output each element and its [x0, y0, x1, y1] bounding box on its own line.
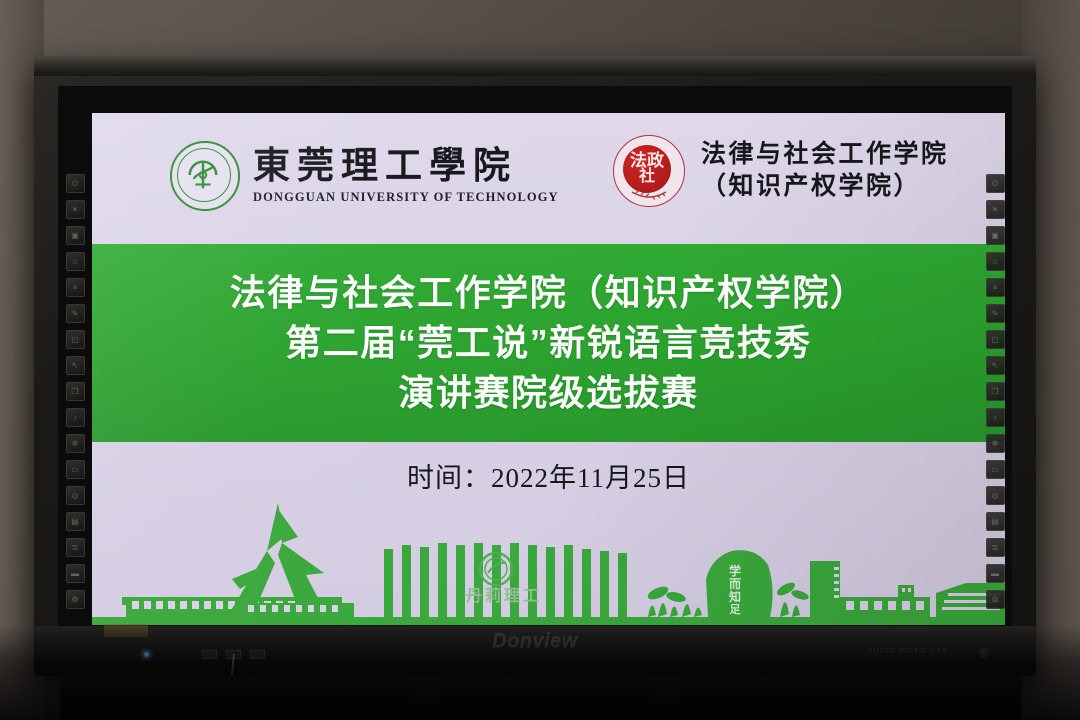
brightness-icon[interactable]: ☀: [986, 200, 1005, 219]
home-icon[interactable]: ⌂: [986, 252, 1005, 271]
display-screen[interactable]: 東莞理工學院 DONGGUAN UNIVERSITY OF TECHNOLOGY…: [92, 113, 1005, 625]
school-name-block: 法律与社会工作学院 （知识产权学院）: [701, 142, 949, 201]
university-name-cn: 東莞理工學院: [253, 147, 559, 186]
gate-school-name: 丹莉理工: [466, 586, 542, 605]
university-name-en: DONGGUAN UNIVERSITY OF TECHNOLOGY: [253, 190, 559, 205]
campus-skyline-illustration: 丹莉理工 学 而: [92, 493, 1005, 625]
seal-char-bottom: 社: [639, 169, 655, 184]
home-icon[interactable]: ⌂: [66, 252, 85, 271]
capture-icon[interactable]: ❐: [986, 382, 1005, 401]
bezel-top-edge: [34, 56, 1036, 76]
seal-characters: 法政 社: [623, 145, 671, 193]
menu-icon[interactable]: ≡: [66, 278, 85, 297]
university-branding: 東莞理工學院 DONGGUAN UNIVERSITY OF TECHNOLOGY: [170, 141, 559, 211]
presentation-slide: 東莞理工學院 DONGGUAN UNIVERSITY OF TECHNOLOGY…: [92, 113, 1005, 625]
eraser-icon[interactable]: ◰: [66, 330, 85, 349]
campus-gate-icon: [380, 543, 636, 623]
monument-text-3: 知: [728, 589, 741, 604]
floor-shadow: [0, 624, 1080, 720]
monument-text-4: 足: [730, 603, 742, 616]
freeze-icon[interactable]: ❄: [986, 434, 1005, 453]
camera-icon[interactable]: ◎: [986, 486, 1005, 505]
interactive-display[interactable]: 東莞理工學院 DONGGUAN UNIVERSITY OF TECHNOLOGY…: [34, 56, 1036, 676]
school-branding: 法政 社 法律与社会工作学院 （知识产权学院）: [613, 135, 949, 207]
photo-scene: 東莞理工學院 DONGGUAN UNIVERSITY OF TECHNOLOGY…: [0, 0, 1080, 720]
select-icon[interactable]: ↖: [986, 356, 1005, 375]
keyboard-icon[interactable]: ▬: [66, 564, 85, 583]
monument-text-2: 而: [729, 577, 741, 591]
select-icon[interactable]: ↖: [66, 356, 85, 375]
save-icon[interactable]: ▭: [986, 460, 1005, 479]
volume-icon[interactable]: ♪: [66, 408, 85, 427]
brightness-icon[interactable]: ☀: [66, 200, 85, 219]
input-source-icon[interactable]: ▣: [66, 226, 85, 245]
capture-icon[interactable]: ❐: [66, 382, 85, 401]
volume-icon[interactable]: ♪: [986, 408, 1005, 427]
list-icon[interactable]: ≣: [66, 538, 85, 557]
emblem-monogram-icon: [184, 156, 222, 194]
pen-write-icon[interactable]: ✎: [986, 304, 1005, 323]
title-line-3: 演讲赛院级选拔赛: [398, 369, 698, 417]
campus-monument-icon: 学 而 知 足: [706, 550, 773, 617]
university-name-block: 東莞理工學院 DONGGUAN UNIVERSITY OF TECHNOLOGY: [253, 147, 559, 204]
freeze-icon[interactable]: ❄: [66, 434, 85, 453]
title-line-2: 第二届“莞工说”新锐语言竞技秀: [285, 319, 812, 367]
law-school-seal-icon: 法政 社: [613, 135, 685, 207]
bezel-buttons-left[interactable]: ⏻ ☀ ▣ ⌂ ≡ ✎ ◰ ↖ ❐ ♪ ❄ ▭ ◎ ▤ ≣ ▬ ⚙: [64, 174, 86, 609]
save-icon[interactable]: ▭: [66, 460, 85, 479]
settings-icon[interactable]: ⚙: [66, 590, 85, 609]
school-name-line1: 法律与社会工作学院: [701, 142, 949, 168]
pen-write-icon[interactable]: ✎: [66, 304, 85, 323]
title-line-1: 法律与社会工作学院（知识产权学院）: [230, 269, 868, 317]
campus-skyline-icon: 丹莉理工 学 而: [92, 493, 1005, 625]
list-icon[interactable]: ≣: [986, 538, 1005, 557]
camera-icon[interactable]: ◎: [66, 486, 85, 505]
window-icon[interactable]: ▤: [66, 512, 85, 531]
slide-header: 東莞理工學院 DONGGUAN UNIVERSITY OF TECHNOLOGY…: [92, 113, 1005, 244]
bezel-buttons-right[interactable]: ⏻ ☀ ▣ ⌂ ≡ ✎ ◰ ↖ ❐ ♪ ❄ ▭ ◎ ▤ ≣ ▬ ⚙: [984, 174, 1006, 609]
input-source-icon[interactable]: ▣: [986, 226, 1005, 245]
window-icon[interactable]: ▤: [986, 512, 1005, 531]
title-banner: 法律与社会工作学院（知识产权学院） 第二届“莞工说”新锐语言竞技秀 演讲赛院级选…: [92, 244, 1005, 442]
power-icon[interactable]: ⏻: [986, 174, 1005, 193]
settings-icon[interactable]: ⚙: [986, 590, 1005, 609]
school-name-line2: （知识产权学院）: [701, 174, 949, 200]
event-date: 时间：2022年11月25日: [92, 456, 1005, 495]
keyboard-icon[interactable]: ▬: [986, 564, 1005, 583]
power-icon[interactable]: ⏻: [66, 174, 85, 193]
monument-text-1: 学: [729, 563, 741, 578]
eraser-icon[interactable]: ◰: [986, 330, 1005, 349]
menu-icon[interactable]: ≡: [986, 278, 1005, 297]
university-emblem-icon: [170, 141, 240, 211]
